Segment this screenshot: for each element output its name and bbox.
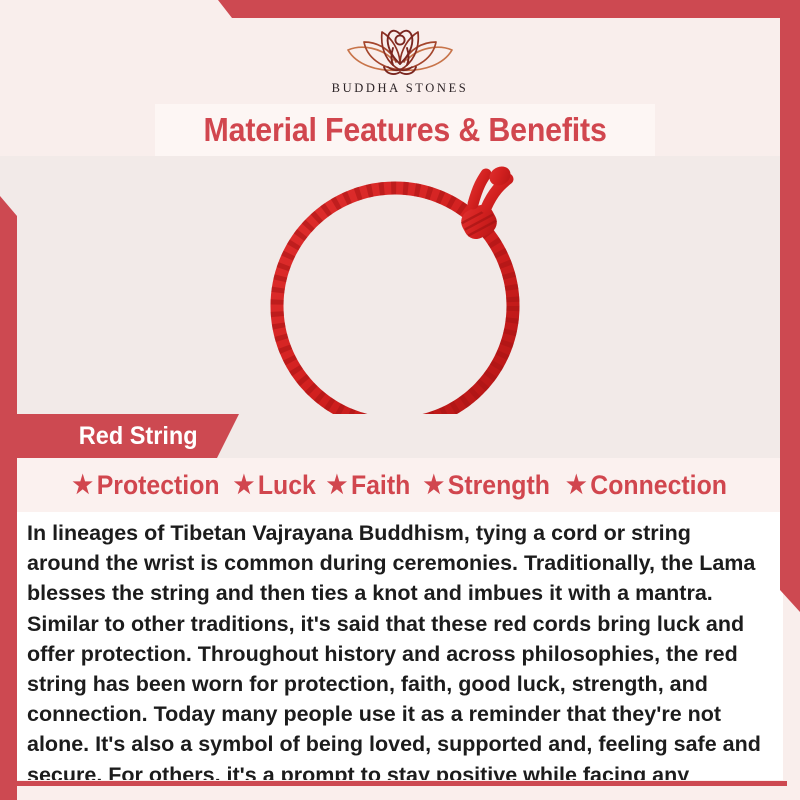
benefit-label: Luck: [257, 470, 315, 501]
star-icon: ★: [423, 473, 444, 498]
benefits-row: ★ Protection ★ Luck ★ Faith ★ Strength ★…: [0, 458, 800, 512]
product-label-banner: Red String: [17, 414, 239, 458]
star-icon: ★: [566, 473, 587, 498]
red-braided-cord-bracelet-photo: [190, 146, 610, 446]
benefit-label: Connection: [591, 470, 728, 501]
benefit-label: Protection: [96, 470, 219, 501]
benefit-item-faith: ★ Faith: [327, 470, 411, 501]
title-band: Material Features & Benefits: [155, 104, 655, 156]
infographic-page: BUDDHA STONES Material Features & Benefi…: [0, 0, 800, 800]
star-icon: ★: [72, 473, 93, 498]
benefit-item-protection: ★ Protection: [72, 470, 219, 501]
decor-top-bar: [0, 0, 800, 18]
star-icon: ★: [327, 473, 348, 498]
decor-bottom-bar: [17, 781, 787, 786]
benefit-item-luck: ★ Luck: [233, 470, 315, 501]
decor-left-bar: [0, 190, 17, 800]
product-photo-area: [0, 156, 800, 414]
benefit-label: Strength: [448, 470, 550, 501]
description-text: In lineages of Tibetan Vajrayana Buddhis…: [27, 518, 765, 800]
page-title: Material Features & Benefits: [203, 111, 606, 149]
brand-name: BUDDHA STONES: [332, 81, 469, 96]
benefit-label: Faith: [351, 470, 410, 501]
lotus-meditation-icon: [336, 20, 464, 78]
benefit-item-connection: ★ Connection: [566, 470, 727, 501]
star-icon: ★: [233, 473, 254, 498]
benefit-item-strength: ★ Strength: [423, 470, 549, 501]
decor-right-bar: [780, 0, 800, 612]
product-label: Red String: [79, 422, 198, 451]
brand-header: BUDDHA STONES: [0, 18, 800, 102]
description-card: In lineages of Tibetan Vajrayana Buddhis…: [17, 512, 783, 788]
